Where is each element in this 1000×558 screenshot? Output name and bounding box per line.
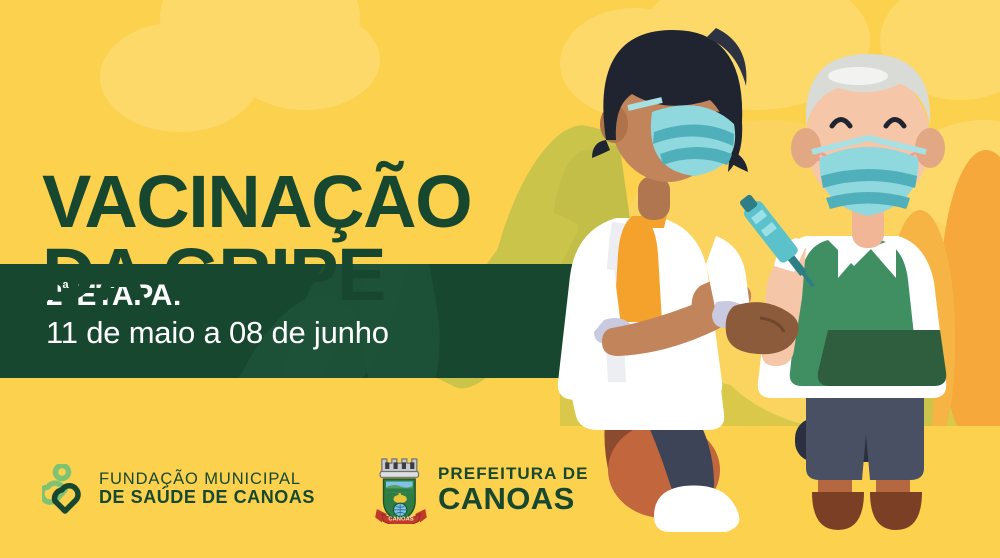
headline-line-1: VACINAÇÃO [42,160,471,243]
crest-ribbon-text: CANOAS [388,517,413,523]
fms-wordmark: FUNDAÇÃO MUNICIPAL DE SAÚDE DE CANOAS [99,471,315,507]
prefeitura-wordmark: PREFEITURA DE CANOAS [438,465,589,514]
footer-logos: FUNDAÇÃO MUNICIPAL DE SAÚDE DE CANOAS [42,454,589,524]
fms-heart-people-mark [42,464,88,514]
cloud-shape-5 [560,8,710,118]
crest-field [386,488,413,492]
canoas-coat-of-arms: CANOAS [375,454,427,524]
fms-line-1: FUNDAÇÃO MUNICIPAL [99,471,315,488]
crest-mural-crown [380,459,418,477]
headline-line-2: DA GRIPE [42,239,471,312]
crest-mast [398,493,401,499]
vaccination-campaign-poster: VACINAÇÃO DA GRIPE 2ª ETAPA: 11 de maio … [0,0,1000,558]
page-title: VACINAÇÃO DA GRIPE [42,94,471,384]
logo-prefeitura-canoas[interactable]: CANOAS PREFEITURA DE CANOAS [375,454,589,524]
prefeitura-line-2: CANOAS [438,483,589,514]
prefeitura-line-1: PREFEITURA DE [438,465,589,482]
cloud-shape-6 [880,0,1000,100]
logo-fundacao-municipal-saude[interactable]: FUNDAÇÃO MUNICIPAL DE SAÚDE DE CANOAS [42,464,315,514]
fms-head-light [56,466,69,479]
fms-line-2: DE SAÚDE DE CANOAS [99,488,315,507]
